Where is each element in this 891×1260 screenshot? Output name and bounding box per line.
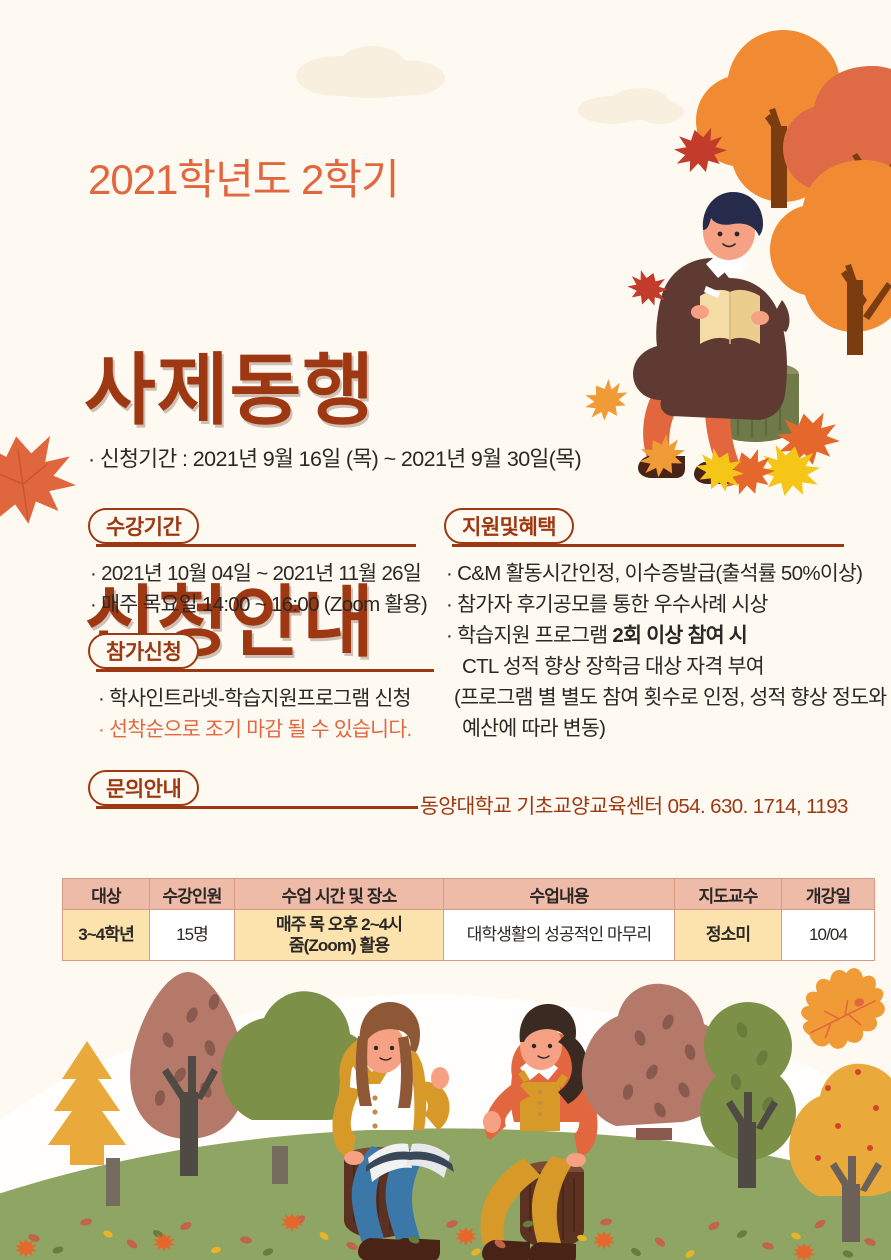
course-period-line-1: · 2021년 10월 04일 ~ 2021년 11월 26일	[90, 558, 427, 589]
th-target: 대상	[63, 879, 150, 910]
ground-leaf-litter	[15, 1213, 877, 1260]
cloud-top-right	[296, 46, 445, 98]
section-benefits-rule	[452, 544, 844, 547]
tree-yellow-fir-left	[48, 1041, 126, 1206]
benefits-line-2: · 참가자 후기공모를 통한 우수사례 시상	[446, 589, 886, 620]
cloud-mid-right	[578, 88, 684, 124]
section-inquiry: 문의안내	[88, 770, 418, 810]
tree-brown-right	[582, 984, 730, 1140]
benefits-line-3-normal: · 학습지원 프로그램	[446, 624, 612, 647]
section-benefits-label: 지원및혜택	[444, 508, 574, 544]
maple-leaf-falling-top	[670, 123, 732, 179]
th-capacity: 수강인원	[150, 879, 235, 910]
application-period-text: · 신청기간 : 2021년 9월 16일 (목) ~ 2021년 9월 30일…	[88, 442, 581, 473]
title-line-1: 사제동행	[84, 352, 375, 429]
section-apply-body: · 학사인트라넷-학습지원프로그램 신청 · 선착순으로 조기 마감 될 수 있…	[98, 683, 412, 745]
course-period-line-2: · 매주 목요일 14:00 ~ 16:00 (Zoom 활용)	[90, 589, 427, 620]
tree-brown-tall-left	[130, 972, 246, 1176]
benefits-line-1: · C&M 활동시간인정, 이수증발급(출석률 50%이상)	[446, 558, 886, 589]
td-professor: 정소미	[675, 910, 782, 961]
tree-red-top	[783, 66, 891, 226]
benefits-line-6: 예산에 따라 변동)	[446, 713, 886, 744]
section-apply-rule	[96, 669, 434, 672]
poster-canvas: 2021학년도 2학기 사제동행 신청안내 · 신청기간 : 2021년 9월 …	[0, 0, 891, 1260]
td-capacity: 15명	[150, 910, 235, 961]
table-row: 3~4학년 15명 매주 목 오후 2~4시 줌(Zoom) 활용 대학생활의 …	[63, 910, 875, 961]
tree-green-round-left	[221, 991, 375, 1184]
td-content: 대학생활의 성공적인 마무리	[444, 910, 675, 961]
section-inquiry-label: 문의안내	[88, 770, 199, 806]
th-start-date: 개강일	[782, 879, 875, 910]
student-girl-right	[481, 1004, 598, 1260]
th-time-place: 수업 시간 및 장소	[235, 879, 444, 910]
student-girl-left	[332, 1002, 454, 1260]
section-benefits-body: · C&M 활동시간인정, 이수증발급(출석률 50%이상) · 참가자 후기공…	[446, 558, 886, 744]
leaf-pile-stump	[633, 408, 843, 502]
section-course-period-label: 수강기간	[88, 508, 199, 544]
td-time-place-line-1: 매주 목 오후 2~4시	[239, 914, 439, 935]
contact-info: 동양대학교 기초교양교육센터 054. 630. 1714, 1193	[420, 789, 848, 819]
apply-line-2-warning: · 선착순으로 조기 마감 될 수 있습니다.	[98, 714, 412, 745]
tree-yellow-right	[789, 1064, 891, 1242]
tree-orange-lower	[770, 160, 891, 355]
table-header-row: 대상 수강인원 수업 시간 및 장소 수업내용 지도교수 개강일	[63, 879, 875, 910]
section-apply: 참가신청 · 학사인트라넷-학습지원프로그램 신청 · 선착순으로 조기 마감 …	[88, 633, 434, 673]
section-course-period: 수강기간 · 2021년 10월 04일 ~ 2021년 11월 26일 · 매…	[88, 508, 418, 548]
td-time-place-line-2: 줌(Zoom) 활용	[239, 935, 439, 956]
tree-green-double-right	[700, 1002, 796, 1188]
td-time-place: 매주 목 오후 2~4시 줌(Zoom) 활용	[235, 910, 444, 961]
section-course-period-rule	[96, 544, 416, 547]
tree-orange-top	[696, 30, 866, 208]
maple-leaf-drift	[578, 373, 635, 429]
benefits-line-5: (프로그램 별 별도 참여 횟수로 인정, 성적 향상 정도와	[446, 682, 886, 713]
section-inquiry-rule	[96, 806, 418, 809]
section-benefits: 지원및혜택 · C&M 활동시간인정, 이수증발급(출석률 50%이상) · 참…	[444, 508, 844, 548]
apply-line-1: · 학사인트라넷-학습지원프로그램 신청	[98, 683, 412, 714]
td-start-date: 10/04	[782, 910, 875, 961]
th-professor: 지도교수	[675, 879, 782, 910]
section-course-period-body: · 2021년 10월 04일 ~ 2021년 11월 26일 · 매주 목요일…	[90, 558, 427, 620]
reading-student-illustration	[633, 192, 799, 484]
benefits-line-3: · 학습지원 프로그램 2회 이상 참여 시	[446, 620, 886, 651]
benefits-line-3-bold: 2회 이상 참여 시	[612, 624, 747, 647]
maple-leaf-mid-left	[623, 266, 672, 311]
oak-leaf-bottom-right	[788, 958, 891, 1058]
maple-leaf-left	[0, 429, 80, 531]
th-content: 수업내용	[444, 879, 675, 910]
benefits-line-4: CTL 성적 향상 장학금 대상 자격 부여	[446, 651, 886, 682]
course-info-table: 대상 수강인원 수업 시간 및 장소 수업내용 지도교수 개강일 3~4학년 1…	[62, 878, 875, 961]
section-apply-label: 참가신청	[88, 633, 199, 669]
td-target: 3~4학년	[63, 910, 150, 961]
